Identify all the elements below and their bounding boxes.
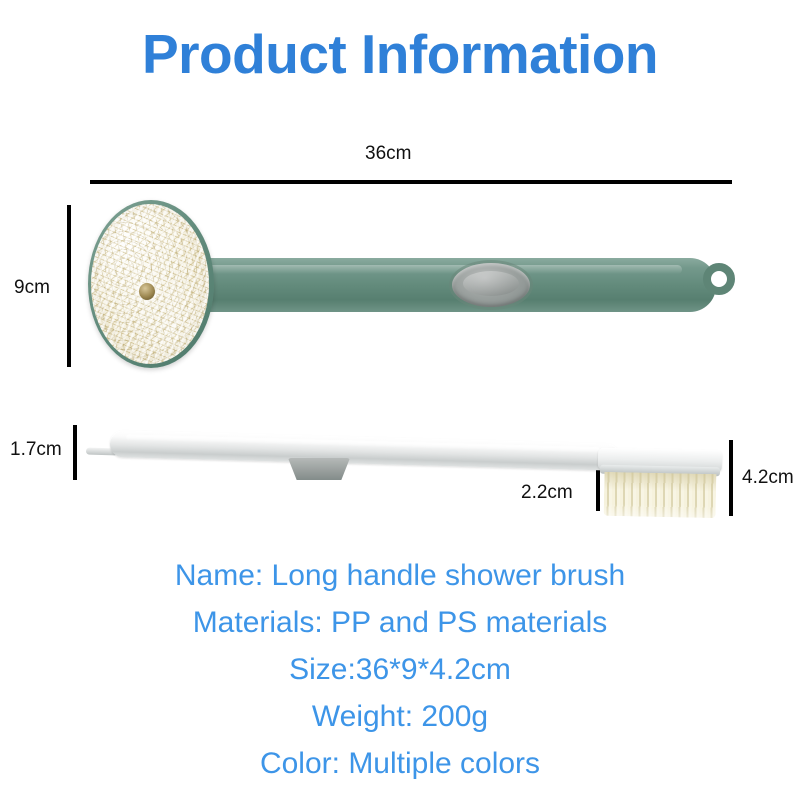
dimension-label-handle-thickness: 1.7cm <box>10 440 62 459</box>
dimension-label-head-thickness: 4.2cm <box>742 468 794 487</box>
spec-line-weight: Weight: 200g <box>0 693 800 740</box>
dimension-line-length <box>90 180 732 184</box>
side-view-release-button <box>288 458 350 480</box>
dimension-label-length: 36cm <box>365 144 411 163</box>
brush-head-center-stud <box>139 283 155 300</box>
spec-line-materials: Materials: PP and PS materials <box>0 599 800 646</box>
dimension-label-button-depth: 2.2cm <box>521 483 573 502</box>
spec-line-name: Name: Long handle shower brush <box>0 552 800 599</box>
side-view-bristles <box>604 472 717 518</box>
hanging-ring-icon <box>703 263 735 295</box>
dimension-label-head-height: 9cm <box>14 278 50 297</box>
handle-release-button <box>452 263 530 307</box>
spec-line-size: Size:36*9*4.2cm <box>0 646 800 693</box>
page-title: Product Information <box>0 26 800 84</box>
spec-line-color: Color: Multiple colors <box>0 740 800 787</box>
specification-list: Name: Long handle shower brush Materials… <box>0 552 800 787</box>
dimension-line-head-thickness <box>729 440 733 516</box>
dimension-line-head-height <box>67 205 71 367</box>
product-information-page: Product Information 36cm 9cm 1.7cm 2.2cm… <box>0 0 800 800</box>
dimension-line-handle-thickness <box>73 425 77 480</box>
